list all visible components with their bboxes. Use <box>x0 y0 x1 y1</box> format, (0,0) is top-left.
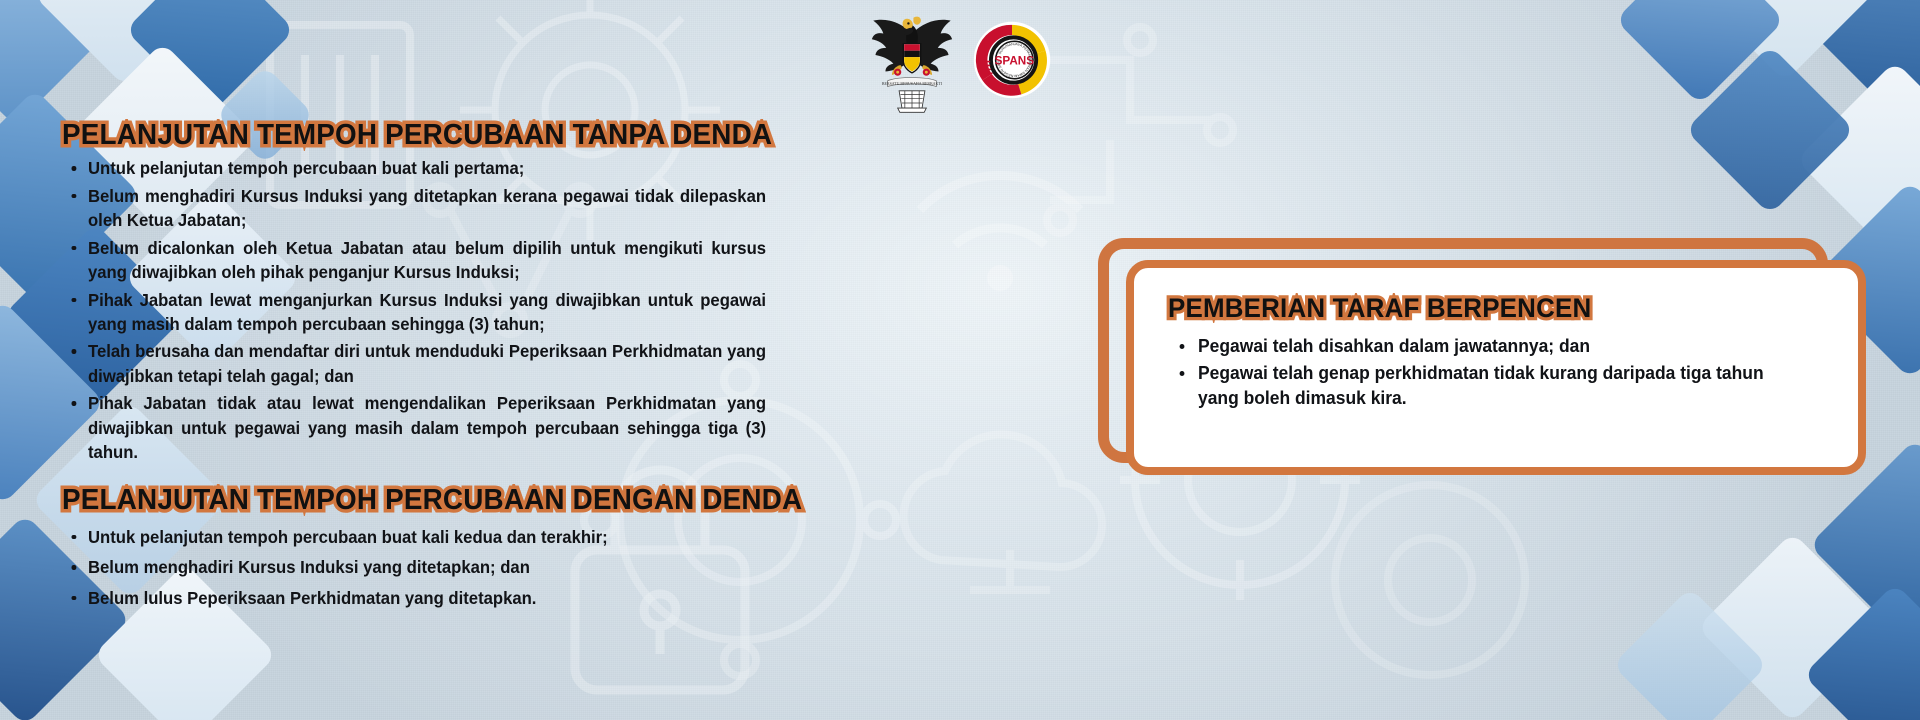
list-item: Telah berusaha dan mendaftar diri untuk … <box>88 339 766 388</box>
list-item: Untuk pelanjutan tempoh percubaan buat k… <box>88 525 766 549</box>
spans-logo-icon: SPANS SURUHANJAYA PERKHIDMATAN AWAM NEGE… <box>973 21 1051 99</box>
list-item: Pihak Jabatan tidak atau lewat mengendal… <box>88 391 766 464</box>
svg-text:BERSATU BERUSAHA BERBAKTI: BERSATU BERUSAHA BERBAKTI <box>882 81 943 86</box>
list-item: Untuk pelanjutan tempoh percubaan buat k… <box>88 156 766 180</box>
list-item: Belum lulus Peperiksaan Perkhidmatan yan… <box>88 586 766 610</box>
section-heading-2: PELANJUTAN TEMPOH PERCUBAAN DENGAN DENDA <box>62 485 802 515</box>
bullet-list-tanpa-denda: Untuk pelanjutan tempoh percubaan buat k… <box>62 156 787 464</box>
section-heading-1-wrap: PELANJUTAN TEMPOH PERCUBAAN TANPA DENDA <box>62 120 787 150</box>
section-heading-2-wrap: PELANJUTAN TEMPOH PERCUBAAN DENGAN DENDA <box>62 485 787 515</box>
bullet-list-berpencen: Pegawai telah disahkan dalam jawatannya;… <box>1168 334 1828 410</box>
card-heading: PEMBERIAN TARAF BERPENCEN <box>1168 294 1591 322</box>
list-item: Belum dicalonkan oleh Ketua Jabatan atau… <box>88 236 766 285</box>
section-heading-1: PELANJUTAN TEMPOH PERCUBAAN TANPA DENDA <box>62 120 772 150</box>
bullet-list-dengan-denda: Untuk pelanjutan tempoh percubaan buat k… <box>62 525 787 610</box>
sarawak-coat-of-arms-icon: BERSATU BERUSAHA BERBAKTI <box>869 6 955 114</box>
logo-group: BERSATU BERUSAHA BERBAKTI SPANS SUR <box>869 6 1051 114</box>
list-item: Belum menghadiri Kursus Induksi yang dit… <box>88 555 766 579</box>
list-item: Pegawai telah genap perkhidmatan tidak k… <box>1198 361 1809 411</box>
list-item: Belum menghadiri Kursus Induksi yang dit… <box>88 184 766 233</box>
card-body: PEMBERIAN TARAF BERPENCEN Pegawai telah … <box>1126 260 1866 475</box>
left-content-column: PELANJUTAN TEMPOH PERCUBAAN TANPA DENDA … <box>62 120 787 616</box>
list-item: Pegawai telah disahkan dalam jawatannya;… <box>1198 334 1809 359</box>
pemberian-taraf-berpencen-panel: PEMBERIAN TARAF BERPENCEN Pegawai telah … <box>1098 238 1868 478</box>
poster-canvas: BERSATU BERUSAHA BERBAKTI SPANS SUR <box>0 0 1920 720</box>
list-item: Pihak Jabatan lewat menganjurkan Kursus … <box>88 288 766 337</box>
